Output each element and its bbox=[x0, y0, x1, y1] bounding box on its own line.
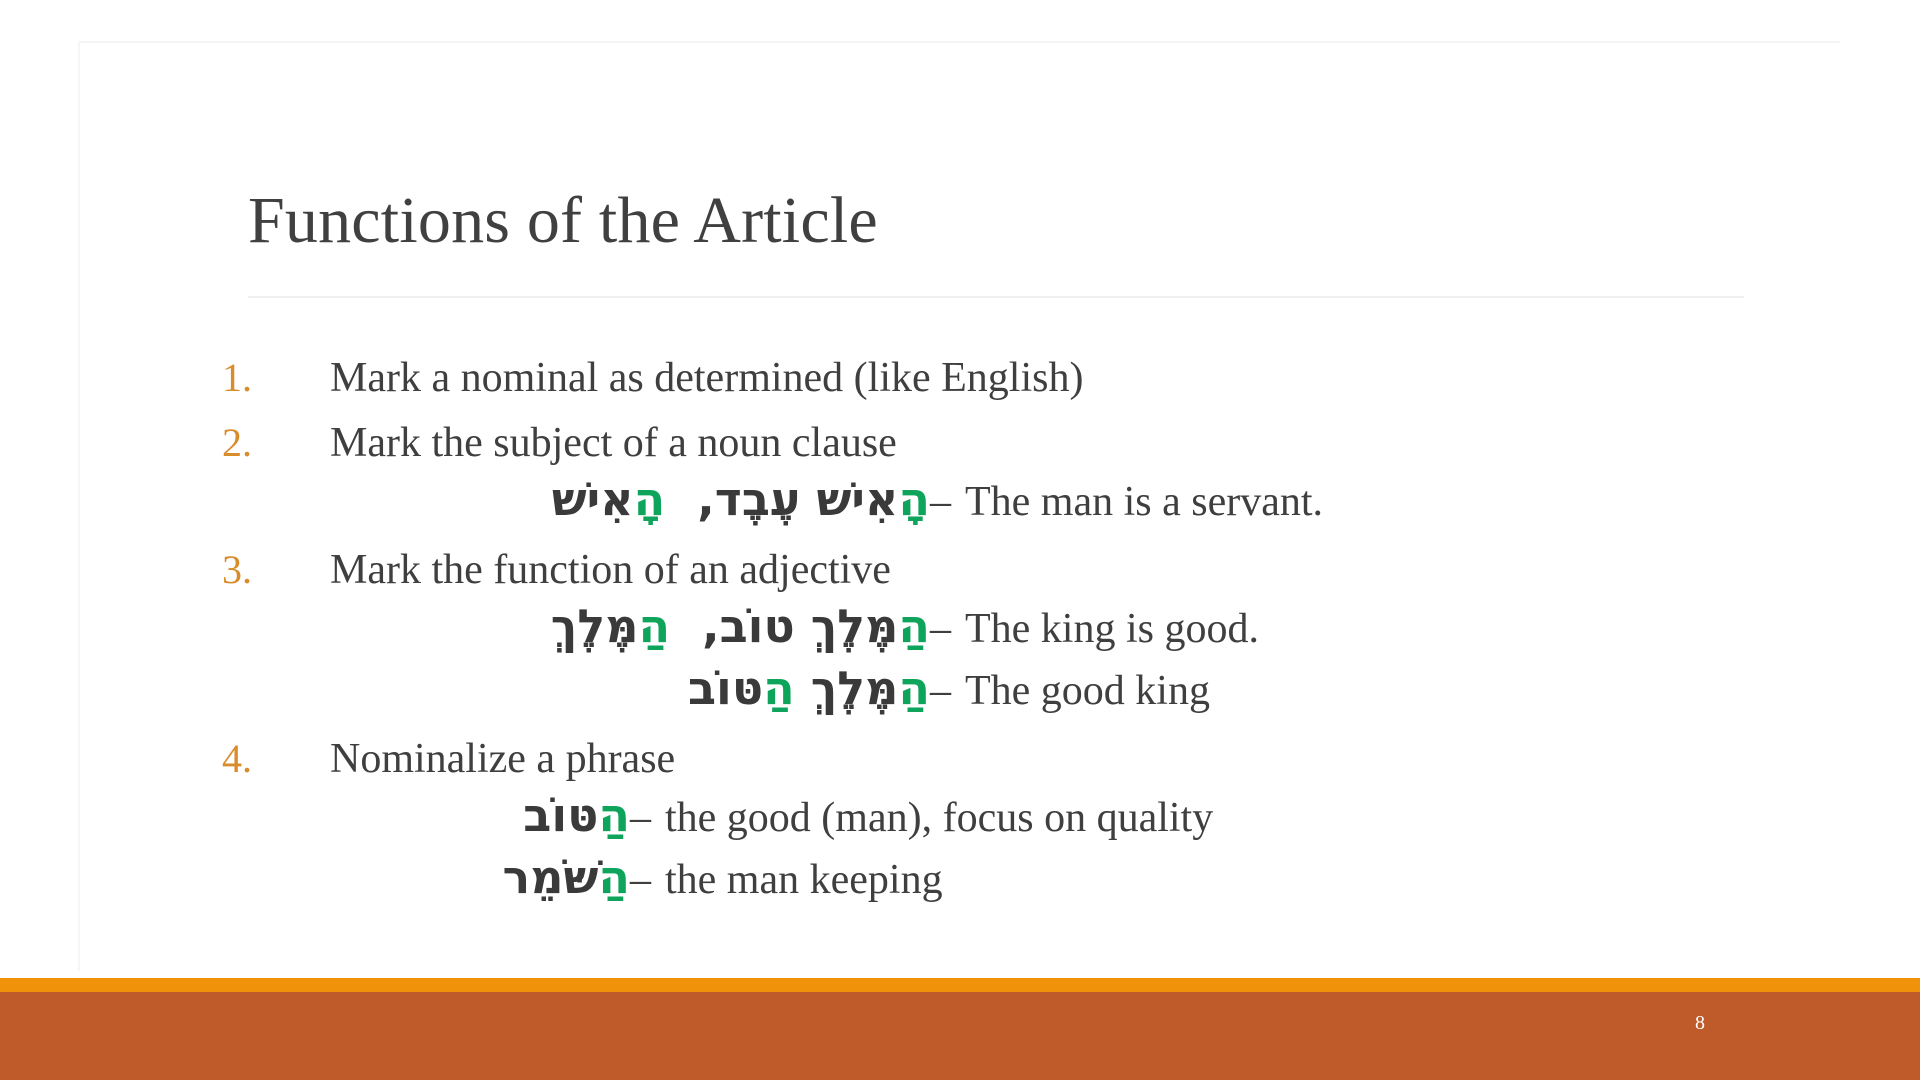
hebrew-word: טּוֹב bbox=[688, 661, 763, 715]
dash: – bbox=[630, 795, 651, 841]
example-row: הַשֹּׁמֵר –the man keeping bbox=[330, 854, 1842, 916]
dash: – bbox=[930, 479, 951, 525]
gloss-line: –The king is good. bbox=[930, 608, 1259, 650]
footer-bar: 8 bbox=[0, 992, 1920, 1080]
hebrew-word: עֶבֶד, bbox=[681, 472, 800, 526]
example-row: הַמֶּלֶךְ הַטּוֹב –The good king bbox=[330, 665, 1842, 727]
gloss-text: the man keeping bbox=[665, 857, 943, 903]
content-list: 1. Mark a nominal as determined (like En… bbox=[222, 346, 1842, 916]
hebrew-article: הַ bbox=[598, 788, 630, 842]
dash: – bbox=[930, 606, 951, 652]
slide-number: 8 bbox=[1695, 1012, 1705, 1035]
hebrew-example: הַמֶּלֶךְ הַטּוֹב bbox=[330, 665, 930, 711]
hebrew-word: שֹּׁמֵר bbox=[503, 850, 599, 904]
example-row: הַמֶּלֶךְ טוֹב, הַמֶּלֶךְ –The king is g… bbox=[330, 603, 1842, 665]
hebrew-space bbox=[795, 661, 811, 715]
list-item-text: Nominalize a phrase bbox=[330, 727, 675, 792]
list-item-header: 3. Mark the function of an adjective bbox=[222, 538, 1842, 603]
page-title: Functions of the Article bbox=[248, 186, 1748, 255]
gloss-text: the good (man), focus on quality bbox=[665, 795, 1213, 841]
hebrew-article: הַ bbox=[638, 599, 670, 653]
hebrew-word: מֶּלֶךְ bbox=[811, 661, 899, 715]
hebrew-word: אִישׁ bbox=[552, 472, 634, 526]
list-item-number: 3. bbox=[222, 538, 330, 603]
slide-canvas: Functions of the Article 1. Mark a nomin… bbox=[0, 0, 1920, 1080]
frame-left-line bbox=[78, 41, 80, 971]
list-item-header: 2. Mark the subject of a noun clause bbox=[222, 411, 1842, 476]
list-item-number: 1. bbox=[222, 346, 330, 411]
hebrew-space bbox=[800, 472, 816, 526]
gloss-text: The good king bbox=[965, 668, 1210, 714]
example-row: הַטּוֹב –the good (man), focus on qualit… bbox=[330, 792, 1842, 854]
hebrew-article: הַ bbox=[763, 661, 795, 715]
hebrew-article: הָ bbox=[634, 472, 666, 526]
hebrew-word: מֶּלֶךְ bbox=[811, 599, 899, 653]
hebrew-article: הַ bbox=[598, 850, 630, 904]
list-item: 4. Nominalize a phrase הַטּוֹב –the good… bbox=[222, 727, 1842, 916]
hebrew-example: הַטּוֹב bbox=[330, 792, 630, 838]
gloss-line: –The man is a servant. bbox=[930, 481, 1323, 523]
footer-accent-bar bbox=[0, 978, 1920, 992]
list-item-header: 1. Mark a nominal as determined (like En… bbox=[222, 346, 1842, 411]
gloss-text: The king is good. bbox=[965, 606, 1259, 652]
hebrew-example: הָאִישׁ עֶבֶד, הָאִישׁ bbox=[330, 476, 930, 522]
list-item-text: Mark a nominal as determined (like Engli… bbox=[330, 346, 1083, 411]
frame-top-line bbox=[78, 41, 1840, 43]
list-item: 2. Mark the subject of a noun clause הָא… bbox=[222, 411, 1842, 538]
gloss-text: The man is a servant. bbox=[965, 479, 1323, 525]
example-row: הָאִישׁ עֶבֶד, הָאִישׁ –The man is a ser… bbox=[330, 476, 1842, 538]
hebrew-example: הַמֶּלֶךְ טוֹב, הַמֶּלֶךְ bbox=[330, 603, 930, 649]
list-item-text: Mark the subject of a noun clause bbox=[330, 411, 897, 476]
list-item-header: 4. Nominalize a phrase bbox=[222, 727, 1842, 792]
hebrew-article: הָ bbox=[898, 472, 930, 526]
hebrew-space bbox=[670, 599, 686, 653]
hebrew-article: הַ bbox=[898, 661, 930, 715]
list-item-number: 4. bbox=[222, 727, 330, 792]
title-divider bbox=[248, 296, 1744, 298]
gloss-line: –The good king bbox=[930, 670, 1210, 712]
dash: – bbox=[930, 668, 951, 714]
hebrew-word: טּוֹב bbox=[523, 788, 598, 842]
list-item-text: Mark the function of an adjective bbox=[330, 538, 891, 603]
hebrew-word: טוֹב, bbox=[686, 599, 795, 653]
gloss-line: –the good (man), focus on quality bbox=[630, 797, 1213, 839]
hebrew-word: מֶּלֶךְ bbox=[551, 599, 639, 653]
title-block: Functions of the Article bbox=[248, 186, 1748, 255]
gloss-line: –the man keeping bbox=[630, 859, 943, 901]
hebrew-word: אִישׁ bbox=[816, 472, 898, 526]
dash: – bbox=[630, 857, 651, 903]
hebrew-article: הַ bbox=[898, 599, 930, 653]
list-item: 3. Mark the function of an adjective הַמ… bbox=[222, 538, 1842, 727]
list-item: 1. Mark a nominal as determined (like En… bbox=[222, 346, 1842, 411]
hebrew-example: הַשֹּׁמֵר bbox=[330, 854, 630, 900]
list-item-number: 2. bbox=[222, 411, 330, 476]
hebrew-space bbox=[795, 599, 811, 653]
hebrew-space bbox=[665, 472, 681, 526]
